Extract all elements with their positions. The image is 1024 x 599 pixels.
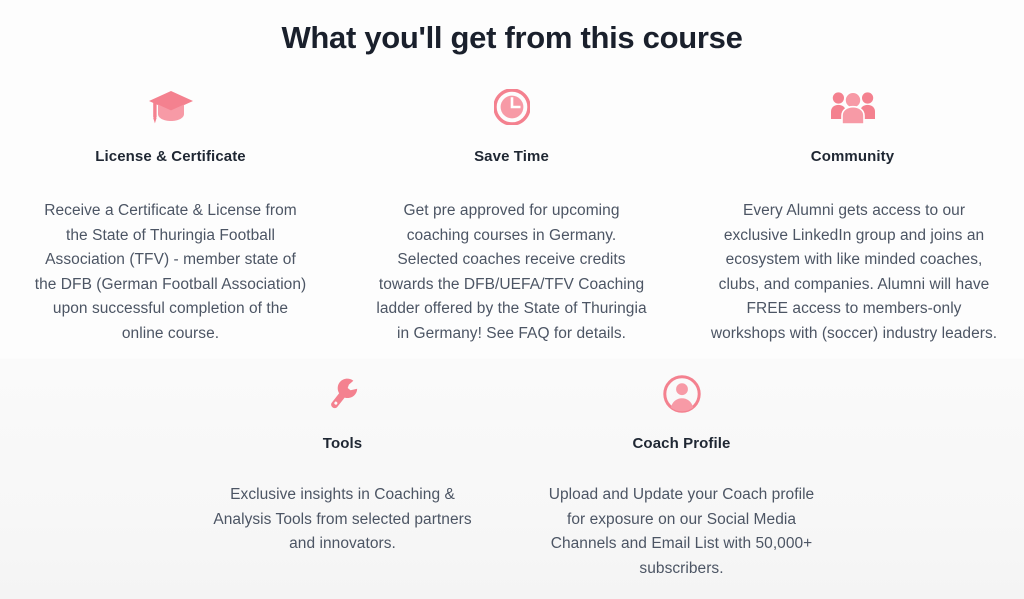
feature-description: Exclusive insights in Coaching & Analysi… (201, 483, 484, 557)
user-circle-icon (540, 366, 823, 422)
feature-card-tools: Tools Exclusive insights in Coaching & A… (173, 366, 512, 581)
feature-description: Upload and Update your Coach profile for… (548, 483, 816, 581)
feature-description: Receive a Certificate & License from the… (34, 199, 308, 346)
feature-description: Get pre approved for upcoming coaching c… (375, 199, 649, 346)
people-group-icon (710, 79, 995, 135)
page-title: What you'll get from this course (0, 0, 1024, 57)
feature-title: License & Certificate (28, 147, 313, 167)
feature-card-save-time: Save Time Get pre approved for upcoming … (341, 79, 682, 346)
features-row-1: License & Certificate Receive a Certific… (0, 79, 1024, 346)
feature-card-license-certificate: License & Certificate Receive a Certific… (0, 79, 341, 346)
feature-title: Save Time (369, 147, 654, 167)
clock-icon (369, 79, 654, 135)
feature-card-community: Community Every Alumni gets access to ou… (682, 79, 1023, 346)
feature-description: Every Alumni gets access to our exclusiv… (710, 199, 998, 346)
graduation-cap-icon (28, 79, 313, 135)
features-row-2: Tools Exclusive insights in Coaching & A… (0, 366, 1024, 581)
feature-title: Community (710, 147, 995, 167)
feature-title: Tools (201, 434, 484, 454)
feature-title: Coach Profile (540, 434, 823, 454)
wrench-icon (201, 366, 484, 422)
feature-card-coach-profile: Coach Profile Upload and Update your Coa… (512, 366, 851, 581)
course-benefits-section: What you'll get from this course License… (0, 0, 1024, 599)
